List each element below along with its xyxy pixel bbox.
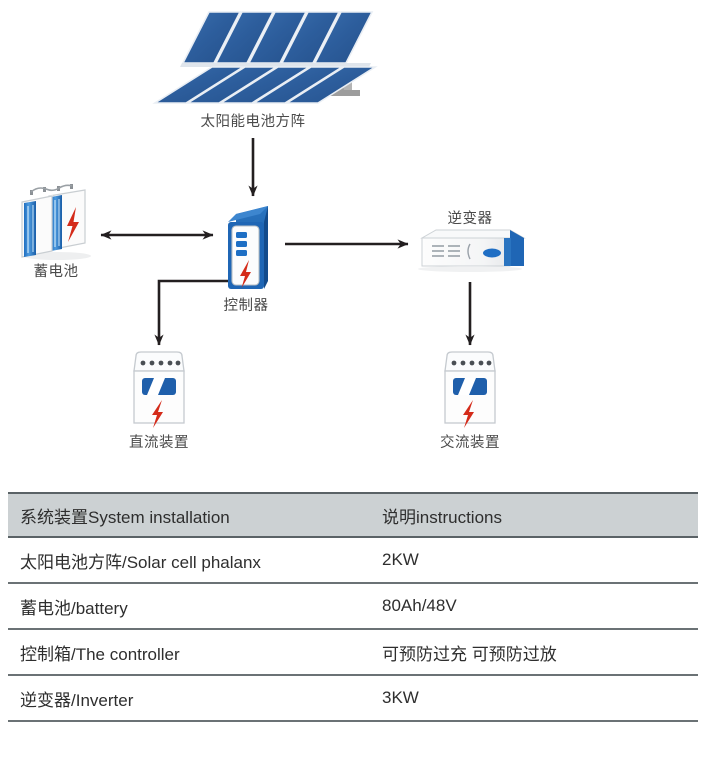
table-header-system-installation: 系统装置System installation: [8, 503, 380, 528]
solar-panel-array-icon: [155, 12, 375, 103]
table-row: 蓄电池/battery 80Ah/48V: [8, 584, 698, 630]
specification-table: 系统装置System installation 说明instructions 太…: [8, 492, 698, 722]
label-controller: 控制器: [196, 294, 296, 315]
table-cell-spec: 2KW: [380, 550, 698, 570]
table-cell-device: 太阳电池方阵/Solar cell phalanx: [8, 548, 380, 573]
charge-controller-icon: [228, 206, 268, 289]
table-cell-device: 蓄电池/battery: [8, 594, 380, 619]
cell-text: 逆变器/Inverter: [20, 691, 133, 710]
system-diagram: 太阳能电池方阵 蓄电池 控制器 逆变器 直流装置 交流装置: [0, 0, 708, 480]
cell-text: 80Ah/48V: [382, 596, 457, 615]
label-dc-load: 直流装置: [109, 431, 209, 452]
ac-appliance-icon: [445, 352, 495, 428]
label-ac-load: 交流装置: [420, 431, 520, 452]
table-row: 逆变器/Inverter 3KW: [8, 676, 698, 722]
cell-text: 3KW: [382, 688, 419, 707]
label-solar-array: 太阳能电池方阵: [183, 110, 323, 131]
table-header-instructions: 说明instructions: [380, 503, 698, 528]
table-cell-spec: 3KW: [380, 688, 698, 708]
cell-text: 控制箱/The controller: [20, 645, 180, 664]
label-battery: 蓄电池: [6, 260, 106, 281]
cell-text: 可预防过充 可预防过放: [382, 645, 557, 664]
cell-text: 蓄电池/battery: [20, 599, 128, 618]
label-inverter: 逆变器: [420, 207, 520, 228]
inverter-icon: [418, 230, 524, 272]
dc-appliance-icon: [134, 352, 184, 428]
table-cell-device: 控制箱/The controller: [8, 640, 380, 665]
table-cell-spec: 可预防过充 可预防过放: [380, 640, 698, 665]
header-cell-text: 说明instructions: [382, 508, 502, 527]
table-row: 太阳电池方阵/Solar cell phalanx 2KW: [8, 538, 698, 584]
table-header-row: 系统装置System installation 说明instructions: [8, 492, 698, 538]
header-cell-text: 系统装置System installation: [20, 508, 230, 527]
battery-bank-icon: [22, 184, 91, 260]
table-cell-device: 逆变器/Inverter: [8, 686, 380, 711]
cell-text: 2KW: [382, 550, 419, 569]
table-row: 控制箱/The controller 可预防过充 可预防过放: [8, 630, 698, 676]
table-cell-spec: 80Ah/48V: [380, 596, 698, 616]
cell-text: 太阳电池方阵/Solar cell phalanx: [20, 553, 261, 572]
